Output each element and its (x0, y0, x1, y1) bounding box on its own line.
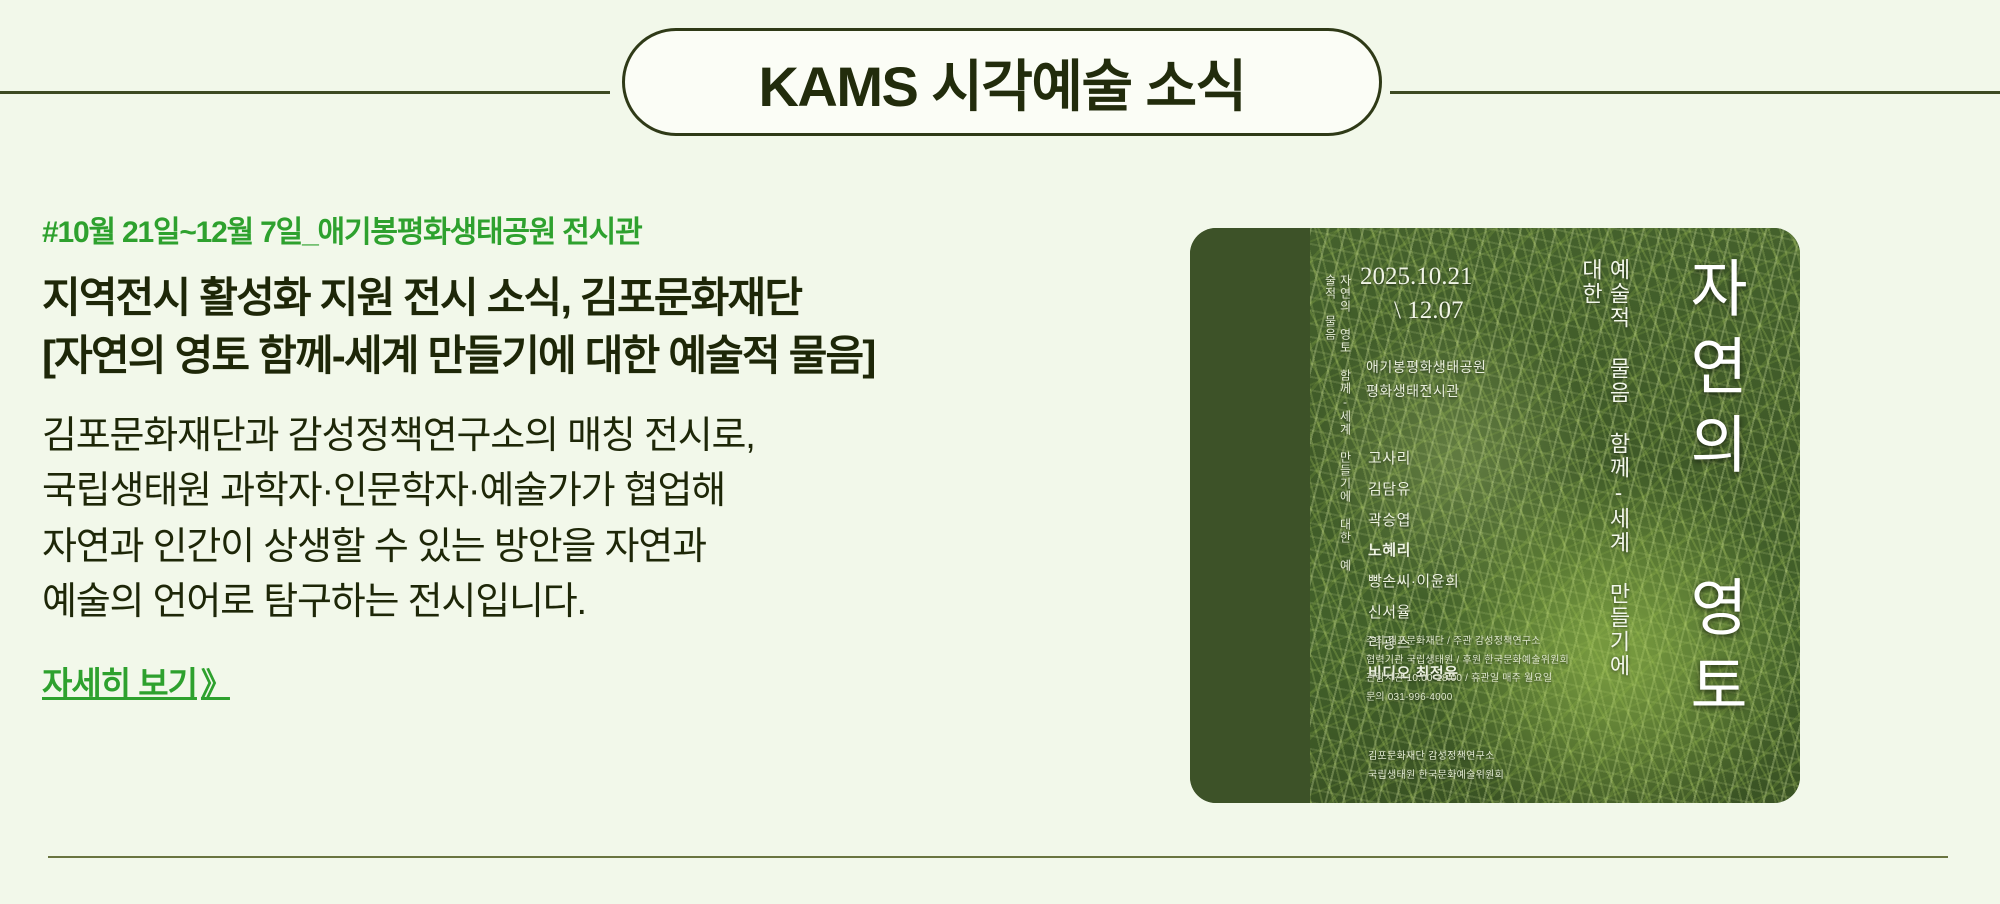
poster-credit-line-1: 주최 김포문화재단 / 주관 감성정책연구소 (1366, 633, 1569, 652)
poster-credit-line-2: 협력기관 국립생태원 / 후원 한국문화예술위원회 (1366, 652, 1569, 671)
poster-logo-strip: 김포문화재단 감성정책연구소 국립생태원 한국문화예술위원회 (1368, 747, 1504, 785)
body-line-1: 김포문화재단과 감성정책연구소의 매칭 전시로, (42, 409, 1142, 464)
read-more-link[interactable]: 자세히 보기》 (42, 657, 230, 705)
article-headline: 지역전시 활성화 지원 전시 소식, 김포문화재단 [자연의 영토 함께-세계 … (42, 269, 1142, 385)
poster-credit-block: 주최 김포문화재단 / 주관 감성정책연구소 협력기관 국립생태원 / 후원 한… (1366, 633, 1569, 707)
double-chevron-right-icon: 》 (201, 667, 230, 702)
section-title-pill: KAMS 시각예술 소식 (622, 28, 1382, 136)
poster-logo-line-2: 국립생태원 한국문화예술위원회 (1368, 766, 1504, 785)
poster-venue-line-2: 평화생태전시관 (1366, 380, 1486, 404)
poster-credit-line-4: 문의 031-996-4000 (1366, 689, 1569, 708)
poster-flat-panel (1190, 228, 1315, 803)
exhibition-poster-image[interactable]: 2025.10.21 \ 12.07 애기봉평화생태공원 평화생태전시관 고사리… (1190, 228, 1800, 803)
poster-artist-4: 노혜리 (1368, 536, 1459, 567)
newsletter-page: KAMS 시각예술 소식 #10월 21일~12월 7일_애기봉평화생태공원 전… (0, 0, 2000, 904)
poster-artist-1: 고사리 (1368, 444, 1459, 475)
poster-credit-line-3: 관람시간 10:00-18:00 / 휴관일 매주 월요일 (1366, 670, 1569, 689)
article-body: 김포문화재단과 감성정책연구소의 매칭 전시로, 국립생태원 과학자·인문학자·… (42, 409, 1142, 631)
article-content: #10월 21일~12월 7일_애기봉평화생태공원 전시관 지역전시 활성화 지… (42, 215, 1142, 705)
poster-date-start: 2025.10.21 (1360, 263, 1473, 290)
poster-venue: 애기봉평화생태공원 평화생태전시관 (1366, 356, 1486, 404)
poster-title: 자연의 영토 (1678, 256, 1746, 731)
poster-date: 2025.10.21 \ 12.07 (1360, 260, 1473, 328)
poster-venue-line-1: 애기봉평화생태공원 (1366, 356, 1486, 380)
poster-logo-line-1: 김포문화재단 감성정책연구소 (1368, 747, 1504, 766)
body-line-4: 예술의 언어로 탐구하는 전시입니다. (42, 575, 1142, 630)
page-title: KAMS 시각예술 소식 (758, 42, 1245, 123)
headline-line-1: 지역전시 활성화 지원 전시 소식, 김포문화재단 (42, 269, 1142, 327)
poster-side-caption: 자연의 영토 함께-세계 만들기에 대한 예술적 물음 (1322, 274, 1352, 574)
poster-artist-3: 곽승엽 (1368, 506, 1459, 537)
poster-artist-6: 신서율 (1368, 598, 1459, 629)
poster-artist-5: 빵손씨·이윤희 (1368, 567, 1459, 598)
poster-subtitle: 예술적 물음 함께-세계 만들기에 대한 (1577, 258, 1632, 678)
article-tagline: #10월 21일~12월 7일_애기봉평화생태공원 전시관 (42, 215, 1142, 251)
bottom-divider-rule (48, 856, 1948, 858)
body-line-2: 국립생태원 과학자·인문학자·예술가가 협업해 (42, 464, 1142, 519)
poster-artist-2: 김담유 (1368, 475, 1459, 506)
headline-line-2: [자연의 영토 함께-세계 만들기에 대한 예술적 물음] (42, 327, 1142, 385)
body-line-3: 자연과 인간이 상생할 수 있는 방안을 자연과 (42, 520, 1142, 575)
read-more-label: 자세히 보기 (42, 665, 197, 702)
poster-date-end: \ 12.07 (1360, 294, 1473, 328)
